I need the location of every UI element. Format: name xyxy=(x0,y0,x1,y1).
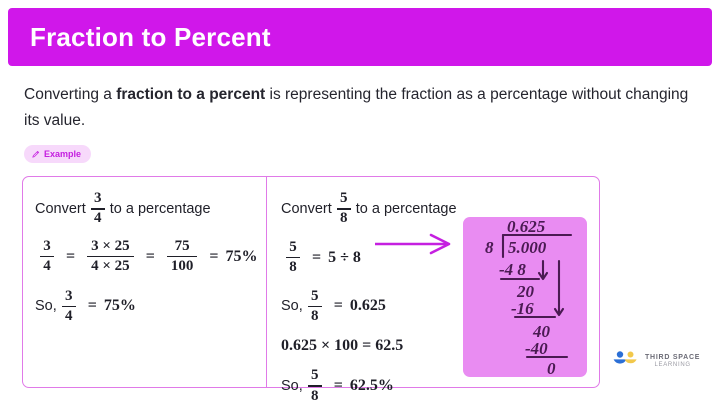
long-division-dividend: 5.000 xyxy=(508,238,547,257)
right-conclusion-result: 62.5% xyxy=(350,377,394,395)
left-eq-f3-numerator: 75 xyxy=(171,239,194,255)
left-prompt-fraction: 3 4 xyxy=(91,191,105,227)
long-division-work: 0.625 8 5.000 -4 8 20 -16 40 -40 0 xyxy=(463,217,587,377)
left-equation: 3 4 = 3 × 25 4 × 25 = 75 100 = 75% xyxy=(35,239,266,275)
example-badge-label: Example xyxy=(44,149,81,159)
left-conclusion-eq: = xyxy=(88,297,97,315)
logo-wordmark: THIRD SPACE LEARNING xyxy=(645,354,700,369)
left-eq-fraction-1: 3 4 xyxy=(40,239,54,275)
left-example-column: Convert 3 4 to a percentage 3 4 = 3 × 25… xyxy=(23,177,267,387)
right-step-decimal-fraction: 5 8 xyxy=(308,289,322,325)
right-conclusion-lead: So, xyxy=(281,378,303,394)
examples-panel: Convert 3 4 to a percentage 3 4 = 3 × 25… xyxy=(22,176,600,388)
right-step-decimal-lead: So, xyxy=(281,298,303,314)
long-division-quotient: 0.625 xyxy=(507,217,546,236)
brand-logo: THIRD SPACE LEARNING xyxy=(612,349,700,374)
right-conclusion-fraction: 5 8 xyxy=(308,368,322,404)
long-division-box: 0.625 8 5.000 -4 8 20 -16 40 -40 0 xyxy=(463,217,587,377)
fraction-bar xyxy=(62,306,76,308)
right-eq-sign: = xyxy=(312,249,321,267)
left-conclusion-lead: So, xyxy=(35,298,57,314)
example-badge: Example xyxy=(24,145,91,163)
left-eq-f1-numerator: 3 xyxy=(41,239,53,255)
fraction-bar xyxy=(308,385,322,387)
logo-line-2: LEARNING xyxy=(645,362,700,369)
right-eq-denominator: 8 xyxy=(287,260,299,276)
left-prompt: Convert 3 4 to a percentage xyxy=(35,191,266,227)
left-conclusion-result: 75% xyxy=(104,297,136,315)
right-prompt-fraction: 5 8 xyxy=(337,191,351,227)
right-eq-expression: 5 ÷ 8 xyxy=(328,249,361,267)
pencil-icon xyxy=(32,145,40,163)
long-division-step-1: -4 8 xyxy=(499,260,526,279)
left-eq-sign-2: = xyxy=(146,248,155,266)
right-conclusion-numerator: 5 xyxy=(309,368,321,384)
left-prompt-lead: Convert xyxy=(35,201,86,217)
left-eq-f3-denominator: 100 xyxy=(167,259,198,275)
right-step-decimal-numerator: 5 xyxy=(309,289,321,305)
intro-text-before: Converting a xyxy=(24,86,116,103)
long-division-remainder: 0 xyxy=(547,359,556,377)
left-conclusion: So, 3 4 = 75% xyxy=(35,289,266,325)
right-example-column: Convert 5 8 to a percentage 5 8 = 5 ÷ 8 … xyxy=(267,177,599,387)
right-step-decimal-result: 0.625 xyxy=(350,297,386,315)
left-eq-sign-3: = xyxy=(209,248,218,266)
left-eq-result: 75% xyxy=(225,248,257,266)
left-conclusion-denominator: 4 xyxy=(63,309,75,325)
right-prompt-lead: Convert xyxy=(281,201,332,217)
right-conclusion-denominator: 8 xyxy=(309,389,321,405)
right-eq-numerator: 5 xyxy=(287,240,299,256)
right-prompt-trail: to a percentage xyxy=(356,201,457,217)
right-step-decimal-eq: = xyxy=(334,297,343,315)
left-conclusion-fraction: 3 4 xyxy=(62,289,76,325)
fraction-bar xyxy=(308,306,322,308)
right-prompt-fraction-denominator: 8 xyxy=(338,211,350,227)
long-division-step-5: -40 xyxy=(525,339,548,358)
page-header: Fraction to Percent xyxy=(8,8,712,66)
left-prompt-fraction-numerator: 3 xyxy=(92,191,104,207)
long-division-divisor: 8 xyxy=(485,238,494,257)
right-conclusion-eq: = xyxy=(334,377,343,395)
left-conclusion-numerator: 3 xyxy=(63,289,75,305)
left-prompt-trail: to a percentage xyxy=(110,201,211,217)
long-division-step-3: -16 xyxy=(511,299,534,318)
intro-paragraph: Converting a fraction to a percent is re… xyxy=(24,82,692,134)
third-space-learning-mark-icon xyxy=(612,349,638,374)
right-step-multiply-text: 0.625 × 100 = 62.5 xyxy=(281,337,403,355)
right-eq-fraction: 5 8 xyxy=(286,240,300,276)
right-step-decimal-denominator: 8 xyxy=(309,309,321,325)
intro-bold-term: fraction to a percent xyxy=(116,86,265,103)
left-prompt-fraction-denominator: 4 xyxy=(92,211,104,227)
page-title: Fraction to Percent xyxy=(8,22,271,53)
left-eq-f1-denominator: 4 xyxy=(41,259,53,275)
logo-line-1: THIRD SPACE xyxy=(645,354,700,362)
left-eq-fraction-2: 3 × 25 4 × 25 xyxy=(87,239,134,275)
left-eq-f2-numerator: 3 × 25 xyxy=(87,239,134,255)
left-eq-fraction-3: 75 100 xyxy=(167,239,198,275)
left-eq-sign-1: = xyxy=(66,248,75,266)
right-prompt-fraction-numerator: 5 xyxy=(338,191,350,207)
left-eq-f2-denominator: 4 × 25 xyxy=(87,259,134,275)
arrow-right-icon xyxy=(375,233,461,255)
